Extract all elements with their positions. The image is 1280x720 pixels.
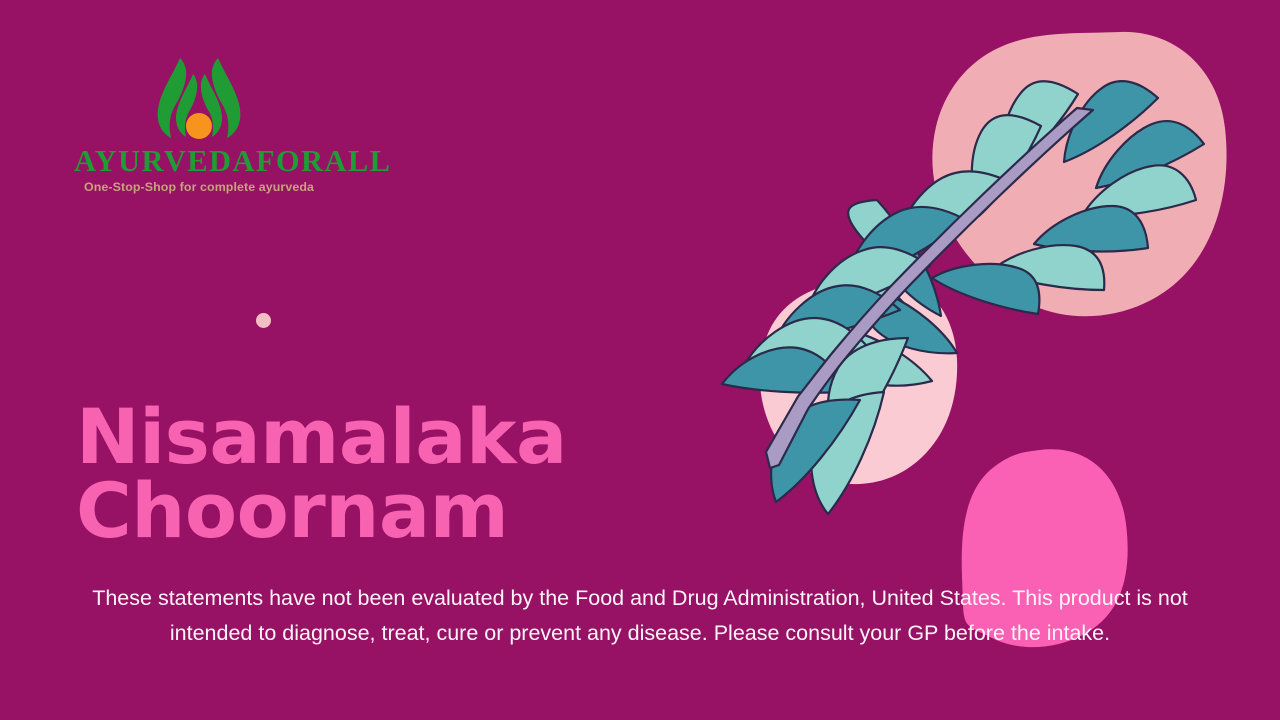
logo-wordmark: AYURVEDAFORALL — [74, 146, 324, 177]
ayurvedaforall-flame-logo-icon — [147, 52, 251, 144]
page-title: Nisamalaka Choornam — [76, 400, 836, 549]
logo-tagline: One-Stop-Shop for complete ayurveda — [74, 181, 324, 193]
disclaimer-text: These statements have not been evaluated… — [64, 581, 1216, 651]
brand-logo: AYURVEDAFORALL One-Stop-Shop for complet… — [74, 52, 324, 193]
page-title-line-1: Nisamalaka — [76, 400, 836, 474]
logo-seed-dot — [186, 113, 212, 139]
page-title-line-2: Choornam — [76, 474, 836, 548]
blob-top-right-shape — [932, 32, 1226, 316]
accent-dot — [256, 313, 271, 328]
presentation-slide: AYURVEDAFORALL One-Stop-Shop for complet… — [0, 0, 1280, 720]
